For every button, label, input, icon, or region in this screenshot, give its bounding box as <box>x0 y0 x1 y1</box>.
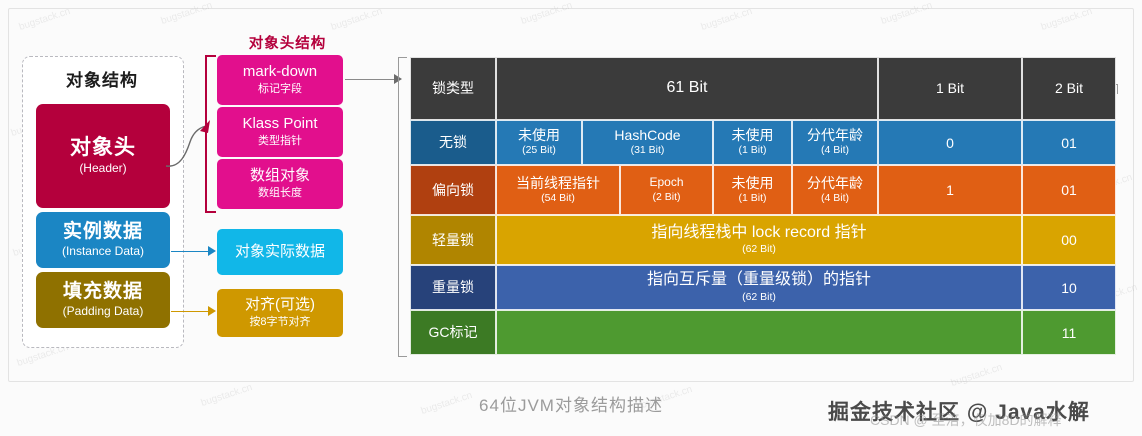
table-header-main-bits: 61 Bit <box>496 57 878 120</box>
cell-mutex-ptr: 指向互斥量（重量级锁）的指针 (62 Bit) <box>496 265 1022 310</box>
cell-sub: (4 Bit) <box>821 192 849 205</box>
cell-epoch-2: Epoch (2 Bit) <box>620 165 713 215</box>
markdown-connector-line <box>345 79 395 80</box>
cell-main: 未使用 <box>732 175 774 191</box>
table-left-bracket <box>398 57 407 357</box>
cell-value: 00 <box>1061 232 1077 248</box>
markdown-box[interactable]: mark-down 标记字段 <box>217 55 343 105</box>
instance-data-box[interactable]: 实例数据 (Instance Data) <box>36 212 170 268</box>
cell-main: 指向互斥量（重量级锁）的指针 <box>647 271 871 289</box>
cell-unused-1-bias: 未使用 (1 Bit) <box>713 165 792 215</box>
cell-main: Epoch <box>649 176 683 190</box>
padding-data-sublabel: (Padding Data) <box>63 304 144 320</box>
lock-state-table: 锁类型 61 Bit 1 Bit 2 Bit 无锁 未使用 (25 Bit) H… <box>410 57 1116 355</box>
cell-sub: (25 Bit) <box>522 144 556 157</box>
cell-lock-bits-light: 00 <box>1022 215 1116 265</box>
array-object-box[interactable]: 数组对象 数组长度 <box>217 159 343 209</box>
object-header-structure-title: 对象头结构 <box>205 32 370 53</box>
padding-data-box[interactable]: 填充数据 (Padding Data) <box>36 272 170 328</box>
object-header-box[interactable]: 对象头 (Header) <box>36 104 170 208</box>
markdown-label: mark-down <box>243 63 317 81</box>
table-header-bias-bits: 1 Bit <box>878 57 1022 120</box>
cell-unused-1: 未使用 (1 Bit) <box>713 120 792 165</box>
instance-connector-arrow <box>208 246 216 256</box>
header-61bit-text: 61 Bit <box>667 79 708 97</box>
klass-point-sublabel: 类型指针 <box>258 134 302 148</box>
cell-sub: (1 Bit) <box>738 192 766 205</box>
table-row[interactable]: 重量锁 <box>410 265 496 310</box>
padding-connector-arrow <box>208 306 216 316</box>
object-header-sublabel: (Header) <box>79 161 126 177</box>
cell-bias-flag-wusuo: 0 <box>878 120 1022 165</box>
markdown-sublabel: 标记字段 <box>258 82 302 96</box>
table-row[interactable]: 无锁 <box>410 120 496 165</box>
cell-value: 0 <box>946 135 954 151</box>
cell-sub: (62 Bit) <box>742 243 776 256</box>
cell-main: 分代年龄 <box>807 175 863 191</box>
alignment-sublabel: 按8字节对齐 <box>249 315 310 329</box>
cell-main: 当前线程指针 <box>516 175 600 191</box>
cell-lock-record-ptr: 指向线程栈中 lock record 指针 (62 Bit) <box>496 215 1022 265</box>
row-label-pianxiangsuo: 偏向锁 <box>432 182 474 198</box>
header-connector-arrow <box>164 120 212 180</box>
alignment-box[interactable]: 对齐(可选) 按8字节对齐 <box>217 289 343 337</box>
cell-value: 01 <box>1061 182 1077 198</box>
cell-gc-empty <box>496 310 1022 355</box>
instance-connector-line <box>171 251 209 252</box>
klass-point-label: Klass Point <box>242 115 317 133</box>
object-structure-title: 对象结构 <box>22 66 182 91</box>
cell-unused-25: 未使用 (25 Bit) <box>496 120 582 165</box>
diagram-root: bugstack.cn bugstack.cn bugstack.cn bugs… <box>0 0 1142 436</box>
cell-sub: (54 Bit) <box>541 192 575 205</box>
cell-sub: (2 Bit) <box>652 191 680 204</box>
instance-data-label: 实例数据 <box>63 221 143 243</box>
cell-lock-bits-wusuo: 01 <box>1022 120 1116 165</box>
row-label-wusuo: 无锁 <box>439 134 467 150</box>
cell-value: 11 <box>1062 325 1077 341</box>
cell-sub: (1 Bit) <box>738 144 766 157</box>
cell-age-4: 分代年龄 (4 Bit) <box>792 120 878 165</box>
cell-lock-bits-heavy: 10 <box>1022 265 1116 310</box>
cell-main: 分代年龄 <box>807 127 863 143</box>
header-lock-type-text: 锁类型 <box>432 80 474 96</box>
table-row[interactable]: 偏向锁 <box>410 165 496 215</box>
cell-value: 10 <box>1061 280 1077 296</box>
array-object-sublabel: 数组长度 <box>258 186 302 200</box>
header-2bit-text: 2 Bit <box>1055 80 1083 96</box>
cell-age-4-bias: 分代年龄 (4 Bit) <box>792 165 878 215</box>
array-object-label: 数组对象 <box>250 167 310 185</box>
cell-sub: (31 Bit) <box>631 144 665 157</box>
cell-main: 未使用 <box>732 127 774 143</box>
padding-data-label: 填充数据 <box>63 281 143 303</box>
klass-point-box[interactable]: Klass Point 类型指针 <box>217 107 343 157</box>
object-header-label: 对象头 <box>70 136 136 160</box>
cell-value: 1 <box>946 182 954 198</box>
cell-value: 01 <box>1061 135 1077 151</box>
table-header-lock-bits: 2 Bit <box>1022 57 1116 120</box>
alignment-label: 对齐(可选) <box>245 296 315 314</box>
cell-main: 未使用 <box>518 127 560 143</box>
padding-connector-line <box>171 311 209 312</box>
row-label-gc: GC标记 <box>429 324 478 340</box>
cell-thread-ptr-54: 当前线程指针 (54 Bit) <box>496 165 620 215</box>
cell-main: 指向线程栈中 lock record 指针 <box>651 224 866 242</box>
cell-sub: (4 Bit) <box>821 144 849 157</box>
cell-lock-bits-bias: 01 <box>1022 165 1116 215</box>
actual-data-box[interactable]: 对象实际数据 <box>217 229 343 275</box>
table-row[interactable]: 轻量锁 <box>410 215 496 265</box>
header-1bit-text: 1 Bit <box>936 80 964 96</box>
actual-data-label: 对象实际数据 <box>235 243 325 261</box>
cell-sub: (62 Bit) <box>742 291 776 304</box>
table-header-row-label: 锁类型 <box>410 57 496 120</box>
cell-hashcode-31: HashCode (31 Bit) <box>582 120 713 165</box>
cell-main: HashCode <box>614 127 680 143</box>
row-label-zhongliangsuo: 重量锁 <box>432 279 474 295</box>
csdn-watermark: CSDN @ 至涪，仅加8D的解释 <box>870 410 1062 430</box>
instance-data-sublabel: (Instance Data) <box>62 244 144 260</box>
cell-bias-flag-bias: 1 <box>878 165 1022 215</box>
row-label-qingliangsuo: 轻量锁 <box>432 232 474 248</box>
cell-lock-bits-gc: 11 <box>1022 310 1116 355</box>
table-row[interactable]: GC标记 <box>410 310 496 355</box>
